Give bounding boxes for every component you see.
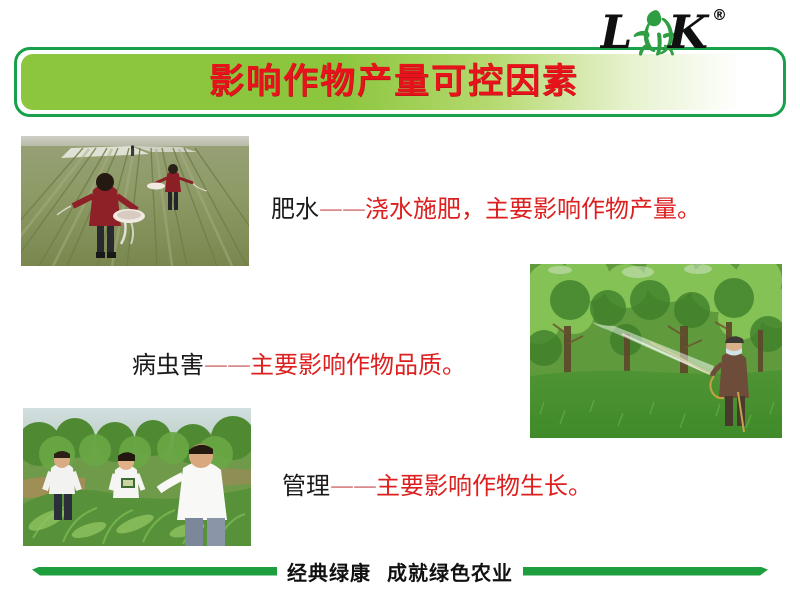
photo-fertilizer-field — [21, 136, 249, 266]
footer-slogan: 经典绿康成就绿色农业 — [277, 557, 523, 586]
text-line-fertilizer-emphasis: 浇水施肥，主要影响作物产量。 — [365, 195, 701, 223]
text-line-management-lead: 管理 — [282, 472, 330, 500]
photo-orchard-spraying — [530, 264, 782, 438]
text-line-fertilizer: 肥水——浇水施肥，主要影响作物产量。 — [271, 196, 701, 224]
svg-text:K: K — [666, 5, 710, 56]
text-line-pests-lead: 病虫害 — [132, 351, 204, 379]
text-line-management-emphasis: 主要影响作物生长。 — [376, 472, 592, 500]
text-line-pests-emphasis: 主要影响作物品质。 — [250, 351, 466, 379]
svg-text:®: ® — [712, 6, 727, 24]
svg-text:L: L — [600, 5, 632, 56]
title-banner-fill: 影响作物产量可控因素 — [21, 54, 779, 110]
text-line-management-dash: —— — [330, 472, 376, 500]
footer-rule-right — [523, 567, 768, 576]
title-banner: 影响作物产量可控因素 — [14, 47, 786, 117]
company-logo: L K ® — [600, 4, 740, 56]
footer-rule-left — [32, 567, 277, 576]
text-line-fertilizer-lead: 肥水 — [271, 195, 319, 223]
photo-orchard-inspection — [23, 408, 251, 546]
text-line-management: 管理——主要影响作物生长。 — [282, 473, 592, 501]
page-title: 影响作物产量可控因素 — [209, 65, 579, 100]
footer-slogan-right: 成就绿色农业 — [387, 561, 513, 585]
footer-slogan-bar: 经典绿康成就绿色农业 — [0, 556, 800, 586]
text-line-pests-dash: —— — [204, 351, 250, 379]
text-line-pests: 病虫害——主要影响作物品质。 — [132, 352, 466, 380]
slide-canvas: L K ® 影响作物产量可控因素 — [0, 0, 800, 600]
text-line-fertilizer-dash: —— — [319, 195, 365, 223]
footer-slogan-left: 经典绿康 — [287, 561, 371, 585]
